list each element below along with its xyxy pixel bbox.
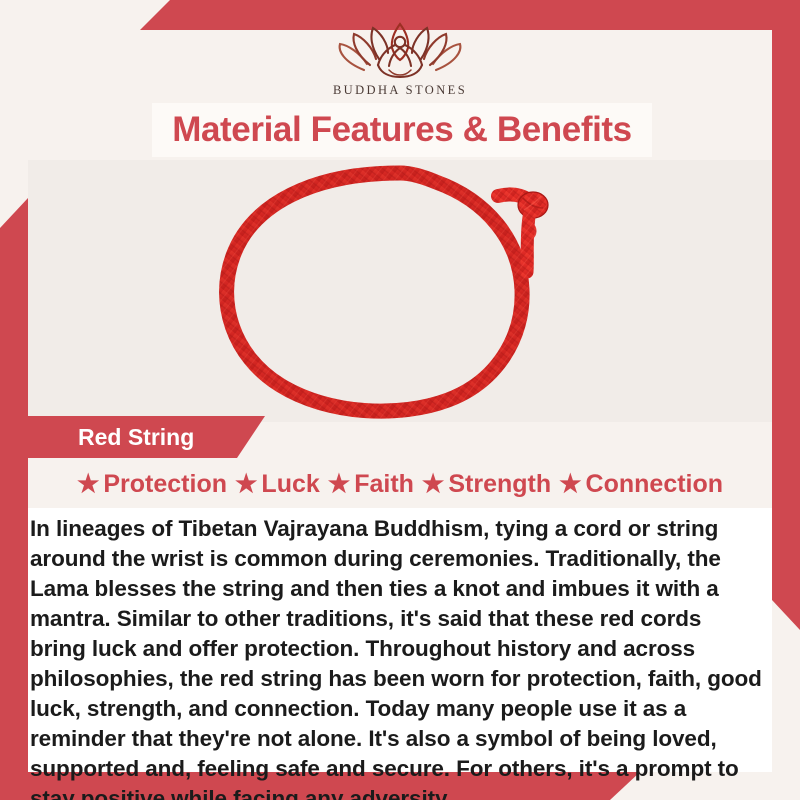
star-icon: ★ [328,472,350,497]
benefit-item-protection: ★ Protection [77,470,227,499]
material-label: Red String [78,424,194,451]
star-icon: ★ [559,472,581,497]
benefit-label: Protection [103,470,227,499]
benefit-label: Faith [354,470,414,499]
decorative-band-left [0,198,28,772]
benefit-item-connection: ★ Connection [559,470,723,499]
star-icon: ★ [77,472,99,497]
infographic-page: BUDDHA STONES Material Features & Benefi… [0,0,800,800]
lotus-meditation-icon [334,18,466,80]
star-icon: ★ [422,472,444,497]
brand-logo: BUDDHA STONES [0,18,800,98]
red-braided-string-bracelet-icon [28,160,772,422]
description-text: In lineages of Tibetan Vajrayana Buddhis… [28,508,772,800]
benefit-label: Strength [448,470,551,499]
star-icon: ★ [235,472,257,497]
decorative-band-right [772,30,800,630]
benefit-label: Connection [586,470,724,499]
benefit-label: Luck [261,470,319,499]
material-ribbon: Red String [28,416,265,458]
product-image [28,160,772,422]
page-title: Material Features & Benefits [172,110,632,150]
description-block: In lineages of Tibetan Vajrayana Buddhis… [28,508,772,772]
title-banner: Material Features & Benefits [152,103,652,157]
benefit-item-faith: ★ Faith [328,470,414,499]
benefit-item-luck: ★ Luck [235,470,320,499]
brand-name: BUDDHA STONES [333,83,467,98]
benefit-item-strength: ★ Strength [422,470,551,499]
benefits-list: ★ Protection ★ Luck ★ Faith ★ Strength ★… [28,460,772,508]
